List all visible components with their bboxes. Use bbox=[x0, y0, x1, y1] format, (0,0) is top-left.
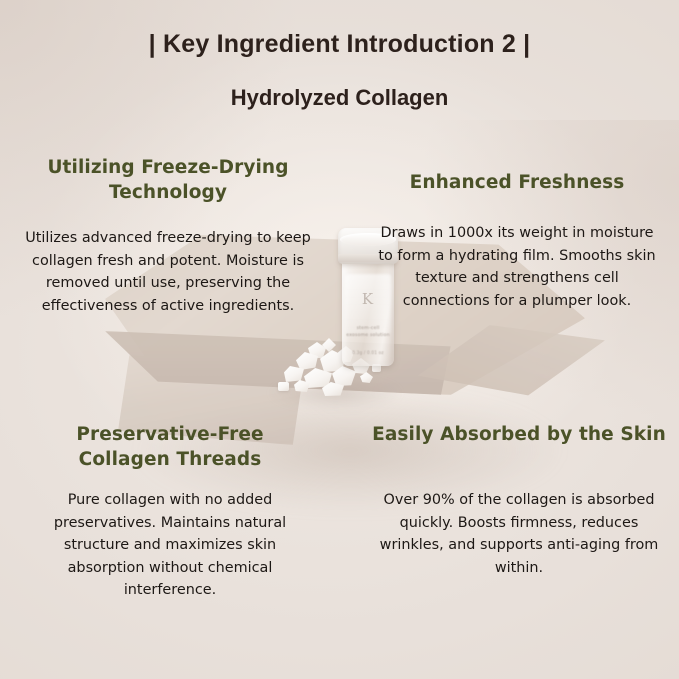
feature-block-freeze-drying: Utilizing Freeze-Drying Technology Utili… bbox=[18, 155, 318, 317]
feature-block-preservative-free: Preservative-Free Collagen Threads Pure … bbox=[30, 422, 310, 602]
text-overlay: | Key Ingredient Introduction 2 | Hydrol… bbox=[0, 0, 679, 679]
feature-block-enhanced-freshness: Enhanced Freshness Draws in 1000x its we… bbox=[378, 170, 656, 312]
feature-heading-freeze-drying: Utilizing Freeze-Drying Technology bbox=[18, 155, 318, 205]
poster-canvas: K stem-cell exosome solution 0.3g / 0.01… bbox=[0, 0, 679, 679]
page-subtitle: Hydrolyzed Collagen bbox=[0, 85, 679, 111]
feature-body-freeze-drying: Utilizes advanced freeze-drying to keep … bbox=[18, 227, 318, 317]
feature-block-easily-absorbed: Easily Absorbed by the Skin Over 90% of … bbox=[372, 422, 666, 579]
page-title: | Key Ingredient Introduction 2 | bbox=[0, 30, 679, 59]
feature-heading-preservative-free: Preservative-Free Collagen Threads bbox=[30, 422, 310, 472]
feature-heading-enhanced-freshness: Enhanced Freshness bbox=[378, 170, 656, 195]
feature-heading-easily-absorbed: Easily Absorbed by the Skin bbox=[372, 422, 666, 447]
feature-body-preservative-free: Pure collagen with no added preservative… bbox=[30, 489, 310, 602]
feature-body-easily-absorbed: Over 90% of the collagen is absorbed qui… bbox=[372, 489, 666, 579]
feature-body-enhanced-freshness: Draws in 1000x its weight in moisture to… bbox=[378, 222, 656, 312]
